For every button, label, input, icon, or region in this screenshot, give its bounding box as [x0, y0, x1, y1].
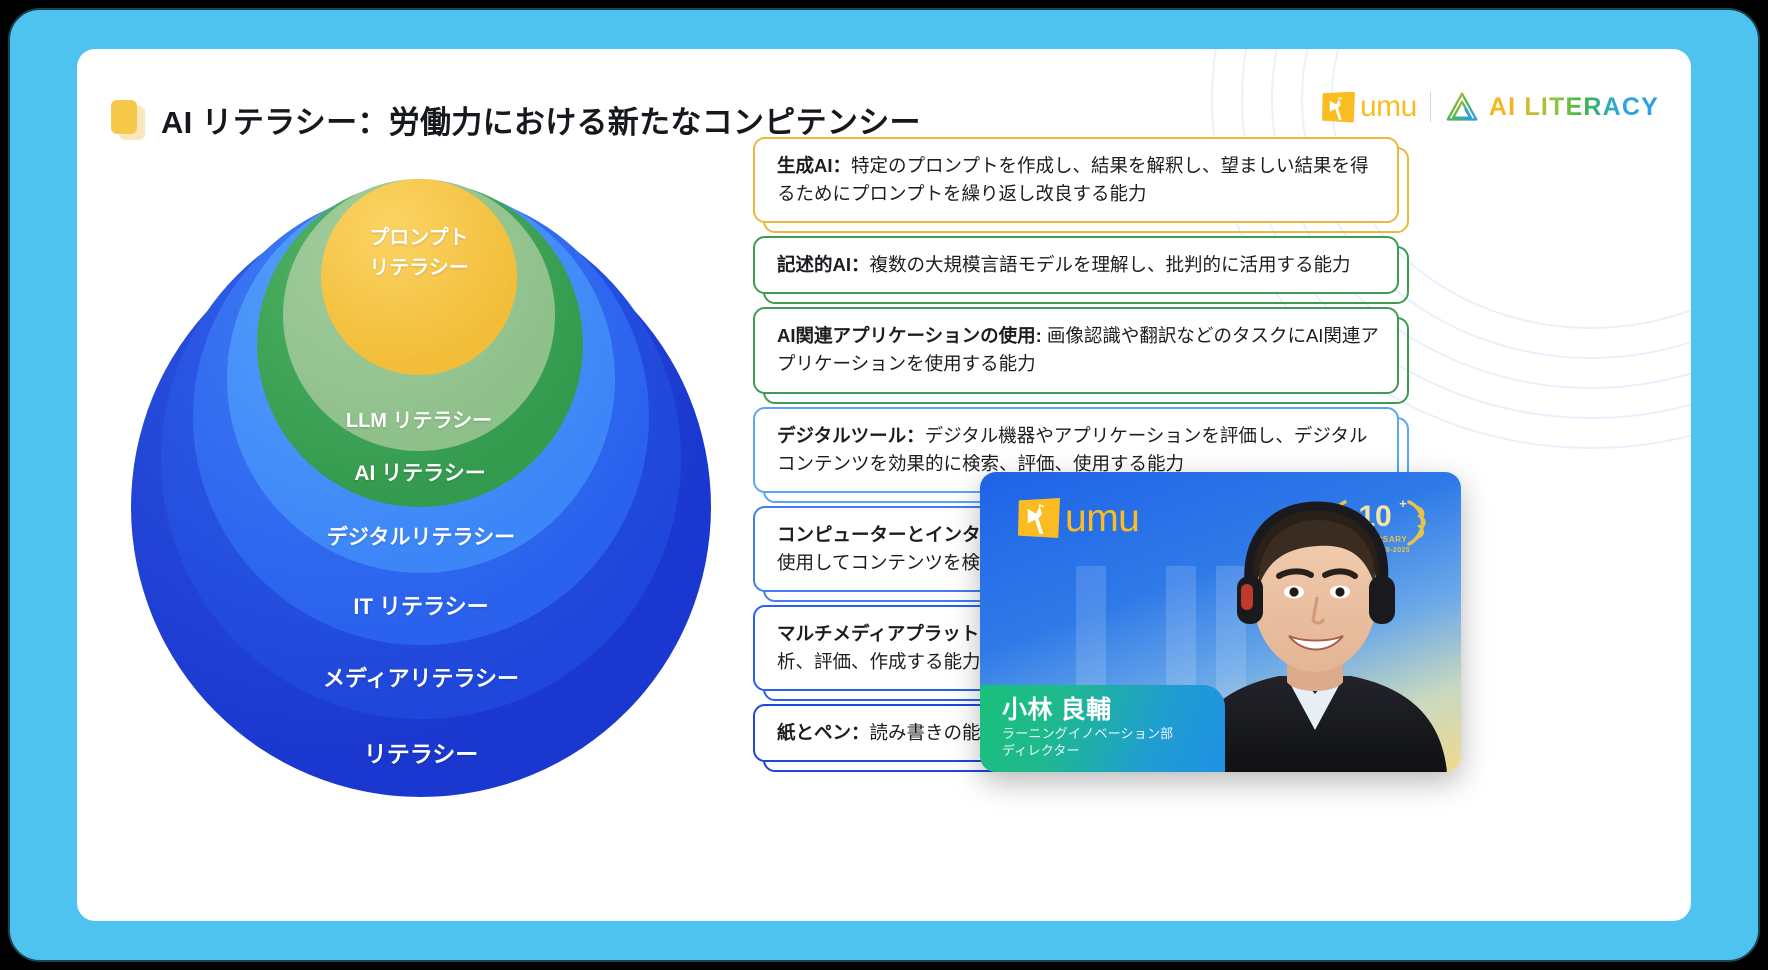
competency-term: 生成AI： — [777, 155, 851, 176]
title-block: AI リテラシー：労働力における新たなコンピテンシー — [111, 97, 921, 142]
venn-ring-label: IT リテラシー — [353, 589, 488, 621]
umu-giraffe-icon — [1322, 92, 1355, 123]
presenter-video-tile[interactable]: umu 10 + ANNIVERSARY UMU.CO 2015-2025 — [980, 472, 1461, 772]
competency-body: 複数の大規模言語モデルを理解し、批判的に活用する能力 — [870, 254, 1351, 275]
screen-share-highlight-border: AI リテラシー：労働力における新たなコンピテンシー umu — [10, 10, 1758, 960]
venn-ring-label: LLM リテラシー — [346, 404, 492, 433]
presenter-role-line-1: ラーニングイノベーション部 — [1002, 725, 1173, 742]
presenter-name: 小林 良輔 — [1002, 696, 1173, 725]
venn-ring-label: デジタルリテラシー — [327, 521, 515, 551]
title-bullet-icon — [111, 100, 145, 140]
competency-term: AI関連アプリケーションの使用: — [777, 325, 1042, 346]
ai-literacy-triangle-icon — [1444, 91, 1480, 123]
competency-term: デジタルツール： — [777, 425, 925, 446]
umu-wordmark: umu — [1065, 499, 1139, 538]
giraffe-glyph — [1327, 96, 1349, 120]
venn-ring-prompt-literacy: プロンプト リテラシー — [321, 179, 517, 375]
venn-ring-label: AI リテラシー — [354, 457, 485, 487]
competency-card[interactable]: 生成AI：特定のプロンプトを作成し、結果を解釈し、望ましい結果を得るためにプロン… — [753, 137, 1399, 223]
presenter-role-line-2: ディレクター — [1002, 742, 1173, 759]
ai-literacy-logo: AI LITERACY — [1444, 91, 1659, 123]
competency-term: 紙とペン： — [777, 722, 870, 743]
slide-surface: AI リテラシー：労働力における新たなコンピテンシー umu — [77, 49, 1691, 921]
list-item[interactable]: 生成AI：特定のプロンプトを作成し、結果を解釈し、望ましい結果を得るためにプロン… — [753, 137, 1399, 223]
ai-literacy-wordmark: AI LITERACY — [1489, 93, 1659, 122]
giraffe-glyph — [1024, 503, 1053, 534]
page-title: AI リテラシー：労働力における新たなコンピテンシー — [161, 97, 921, 142]
presenter-name-badge: 小林 良輔 ラーニングイノベーション部 ディレクター — [980, 685, 1225, 772]
competency-card[interactable]: AI関連アプリケーションの使用: 画像認識や翻訳などのタスクにAI関連アプリケー… — [753, 307, 1399, 393]
venn-ring-label: メディアリテラシー — [323, 661, 519, 693]
umu-logo: umu — [1322, 92, 1417, 123]
video-umu-logo: umu — [1018, 498, 1139, 538]
venn-ring-label: プロンプト リテラシー — [369, 223, 469, 283]
brand-divider — [1430, 92, 1431, 122]
competency-card[interactable]: 記述的AI：複数の大規模言語モデルを理解し、批判的に活用する能力 — [753, 236, 1399, 294]
screen-share-frame: AI リテラシー：労働力における新たなコンピテンシー umu — [0, 0, 1768, 970]
umu-wordmark: umu — [1360, 92, 1417, 122]
venn-ring-label: リテラシー — [364, 735, 479, 769]
literacy-venn-diagram: リテラシー メディアリテラシー IT リテラシー デジタルリテラシー AI リテ… — [131, 177, 767, 797]
competency-body: 特定のプロンプトを作成し、結果を解釈し、望ましい結果を得るためにプロンプトを繰り… — [777, 155, 1368, 204]
competency-term: 記述的AI： — [777, 254, 870, 275]
list-item[interactable]: AI関連アプリケーションの使用: 画像認識や翻訳などのタスクにAI関連アプリケー… — [753, 307, 1399, 393]
brand-lockup: umu — [1322, 91, 1659, 123]
umu-giraffe-icon — [1018, 498, 1060, 538]
list-item[interactable]: 記述的AI：複数の大規模言語モデルを理解し、批判的に活用する能力 — [753, 236, 1399, 294]
